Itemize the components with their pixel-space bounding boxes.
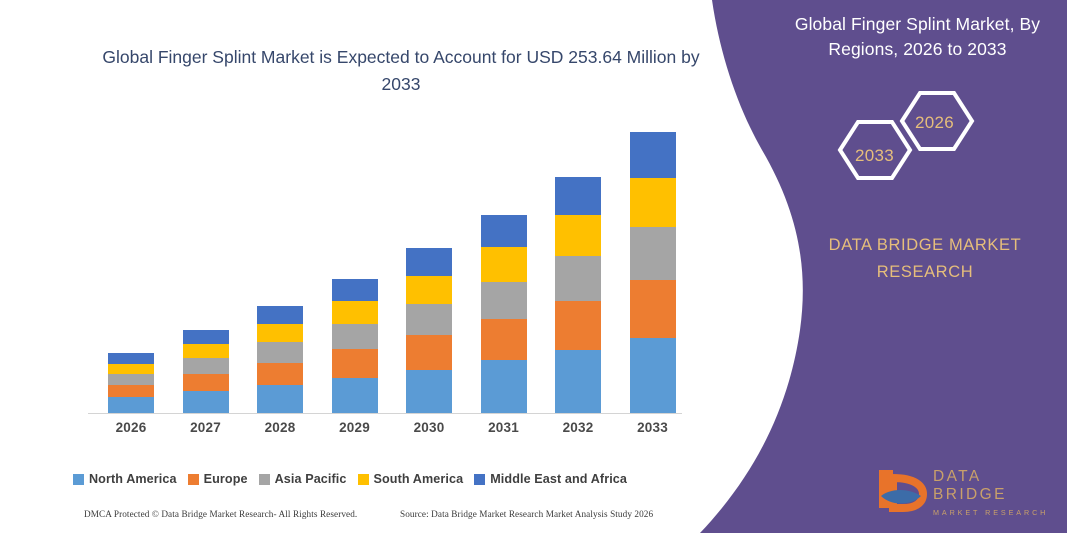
bar-column-2030[interactable]	[406, 248, 452, 413]
data-bridge-logo: DATA BRIDGE MARKET RESEARCH	[875, 466, 1055, 514]
hexagon-2033-label: 2033	[855, 146, 894, 166]
bar-segment-2032-asia-pacific[interactable]	[555, 256, 601, 300]
legend-item-south-america[interactable]: South America	[358, 472, 464, 486]
bar-segment-2032-middle-east-and-africa[interactable]	[555, 177, 601, 215]
bar-chart-plot	[88, 120, 683, 413]
bar-segment-2026-asia-pacific[interactable]	[108, 374, 154, 385]
bar-segment-2032-europe[interactable]	[555, 301, 601, 351]
brand-name: DATA BRIDGE MARKET RESEARCH	[800, 232, 1050, 286]
legend-label: Middle East and Africa	[490, 472, 627, 486]
legend-label: Europe	[204, 472, 248, 486]
bar-segment-2029-south-america[interactable]	[332, 301, 378, 324]
x-tick-2030: 2030	[399, 420, 459, 435]
logo-mark-icon	[875, 466, 929, 512]
bar-column-2026[interactable]	[108, 353, 154, 413]
bar-segment-2026-europe[interactable]	[108, 385, 154, 397]
bar-segment-2033-asia-pacific[interactable]	[630, 227, 676, 280]
bar-segment-2033-europe[interactable]	[630, 280, 676, 339]
x-axis-line	[88, 413, 682, 414]
legend-label: North America	[89, 472, 177, 486]
x-tick-2029: 2029	[325, 420, 385, 435]
bar-segment-2031-middle-east-and-africa[interactable]	[481, 215, 527, 247]
footer-copyright: DMCA Protected © Data Bridge Market Rese…	[84, 509, 357, 519]
bar-segment-2026-middle-east-and-africa[interactable]	[108, 353, 154, 363]
x-tick-2027: 2027	[176, 420, 236, 435]
chart-title: Global Finger Splint Market is Expected …	[96, 44, 706, 98]
bar-segment-2027-south-america[interactable]	[183, 344, 229, 358]
legend-item-asia-pacific[interactable]: Asia Pacific	[259, 472, 347, 486]
bar-segment-2026-north-america[interactable]	[108, 397, 154, 413]
legend-swatch-icon	[73, 474, 84, 485]
legend-item-middle-east-and-africa[interactable]: Middle East and Africa	[474, 472, 627, 486]
bar-segment-2032-south-america[interactable]	[555, 215, 601, 256]
bar-column-2029[interactable]	[332, 279, 378, 413]
bar-segment-2030-asia-pacific[interactable]	[406, 304, 452, 335]
legend-item-north-america[interactable]: North America	[73, 472, 177, 486]
x-tick-2026: 2026	[101, 420, 161, 435]
bar-column-2028[interactable]	[257, 306, 303, 413]
bar-segment-2027-middle-east-and-africa[interactable]	[183, 330, 229, 344]
bar-segment-2030-europe[interactable]	[406, 335, 452, 369]
bar-column-2031[interactable]	[481, 215, 527, 413]
bar-segment-2029-north-america[interactable]	[332, 378, 378, 413]
x-tick-2028: 2028	[250, 420, 310, 435]
bar-segment-2028-middle-east-and-africa[interactable]	[257, 306, 303, 324]
bar-segment-2028-europe[interactable]	[257, 363, 303, 385]
bar-segment-2030-middle-east-and-africa[interactable]	[406, 248, 452, 275]
bar-segment-2030-south-america[interactable]	[406, 276, 452, 304]
legend-item-europe[interactable]: Europe	[188, 472, 248, 486]
legend-swatch-icon	[358, 474, 369, 485]
bar-segment-2028-north-america[interactable]	[257, 385, 303, 413]
x-tick-2033: 2033	[623, 420, 683, 435]
bar-segment-2027-north-america[interactable]	[183, 391, 229, 413]
bar-segment-2031-europe[interactable]	[481, 319, 527, 360]
bar-segment-2031-asia-pacific[interactable]	[481, 282, 527, 319]
bar-segment-2026-south-america[interactable]	[108, 364, 154, 374]
bar-segment-2029-middle-east-and-africa[interactable]	[332, 279, 378, 301]
bar-column-2033[interactable]	[630, 132, 676, 413]
x-tick-2031: 2031	[474, 420, 534, 435]
legend-swatch-icon	[474, 474, 485, 485]
bar-segment-2033-south-america[interactable]	[630, 178, 676, 228]
legend-label: Asia Pacific	[275, 472, 347, 486]
panel-title: Global Finger Splint Market, By Regions,…	[775, 12, 1060, 62]
x-tick-2032: 2032	[548, 420, 608, 435]
bar-segment-2028-south-america[interactable]	[257, 324, 303, 342]
infographic-canvas: Global Finger Splint Market, By Regions,…	[0, 0, 1067, 533]
legend-swatch-icon	[188, 474, 199, 485]
bar-segment-2027-asia-pacific[interactable]	[183, 358, 229, 373]
hexagon-2026-label: 2026	[915, 113, 954, 133]
logo-title: DATA BRIDGE	[933, 468, 1055, 504]
logo-subtitle: MARKET RESEARCH	[933, 507, 1055, 519]
bar-column-2032[interactable]	[555, 177, 601, 413]
bar-segment-2033-middle-east-and-africa[interactable]	[630, 132, 676, 177]
hexagon-badges: 2033 2026	[810, 88, 1020, 198]
footer-source: Source: Data Bridge Market Research Mark…	[400, 509, 653, 519]
bar-segment-2029-europe[interactable]	[332, 349, 378, 377]
bar-segment-2027-europe[interactable]	[183, 374, 229, 391]
bar-segment-2029-asia-pacific[interactable]	[332, 324, 378, 349]
chart-legend: North AmericaEuropeAsia PacificSouth Ame…	[0, 472, 700, 486]
legend-swatch-icon	[259, 474, 270, 485]
bar-segment-2031-north-america[interactable]	[481, 360, 527, 413]
bar-column-2027[interactable]	[183, 330, 229, 413]
bar-segment-2033-north-america[interactable]	[630, 338, 676, 413]
bar-segment-2030-north-america[interactable]	[406, 370, 452, 413]
bar-segment-2032-north-america[interactable]	[555, 350, 601, 413]
legend-label: South America	[374, 472, 464, 486]
bar-segment-2028-asia-pacific[interactable]	[257, 342, 303, 362]
bar-segment-2031-south-america[interactable]	[481, 247, 527, 281]
